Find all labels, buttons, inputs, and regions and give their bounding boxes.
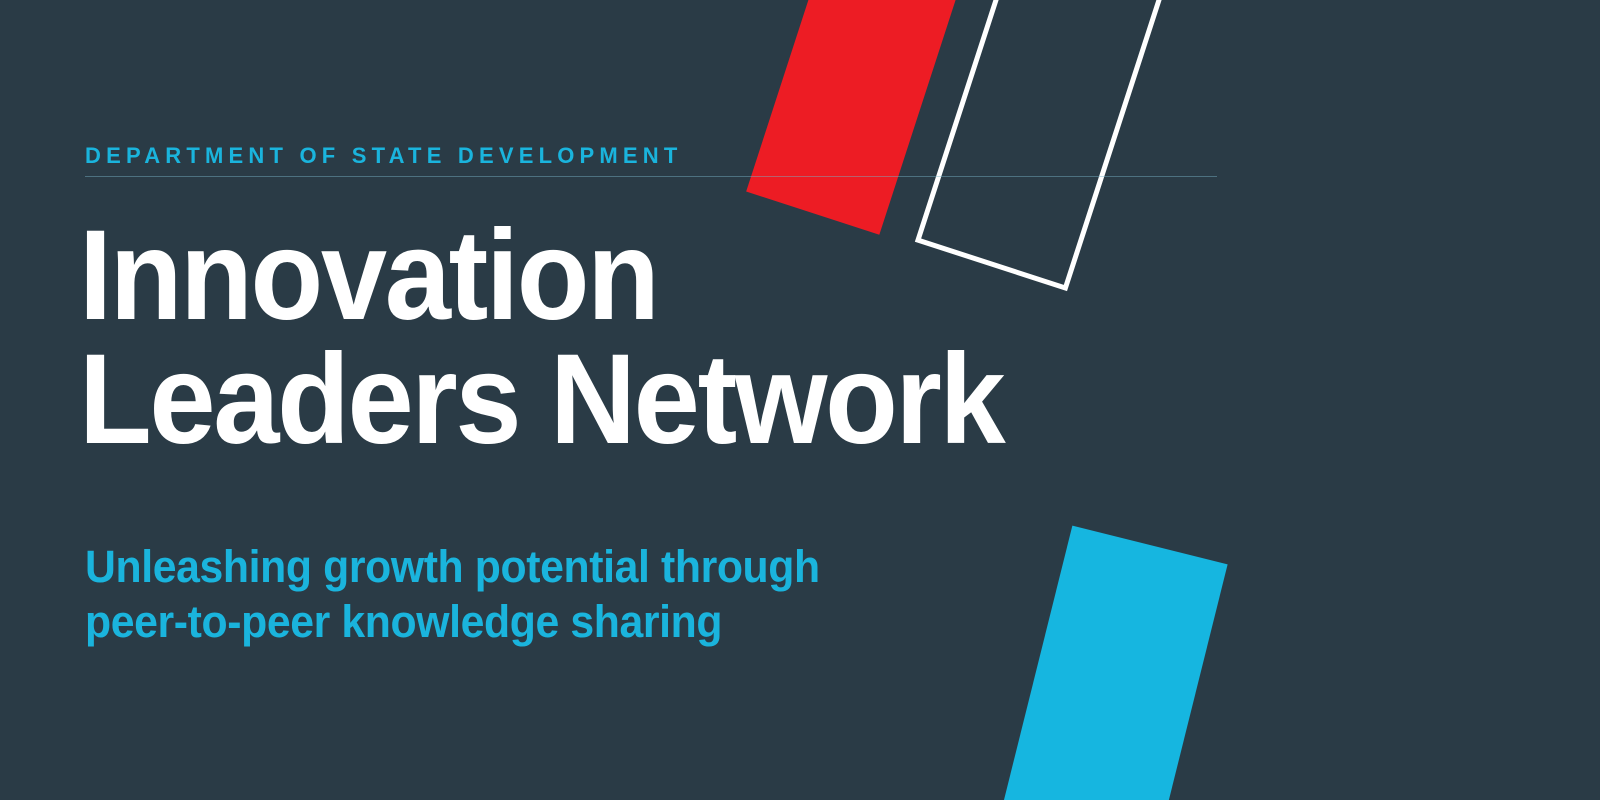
page-title-line-1: Innovation xyxy=(79,214,1102,338)
page-title-line-2: Leaders Network xyxy=(79,338,1102,462)
department-eyebrow: DEPARTMENT OF STATE DEVELOPMENT xyxy=(85,143,683,169)
page-title: Innovation Leaders Network xyxy=(79,214,1179,462)
page-subtitle-line-1: Unleashing growth potential through xyxy=(85,540,820,595)
headline-block: DEPARTMENT OF STATE DEVELOPMENT Innovati… xyxy=(85,0,1265,800)
page-subtitle-line-2: peer-to-peer knowledge sharing xyxy=(85,595,820,650)
page-subtitle: Unleashing growth potential through peer… xyxy=(85,540,858,650)
event-banner: DEPARTMENT OF STATE DEVELOPMENT Innovati… xyxy=(0,0,1600,800)
eyebrow-divider xyxy=(85,176,1217,177)
logo-column: SOUTH AUSTRALIA xyxy=(1280,0,1600,800)
